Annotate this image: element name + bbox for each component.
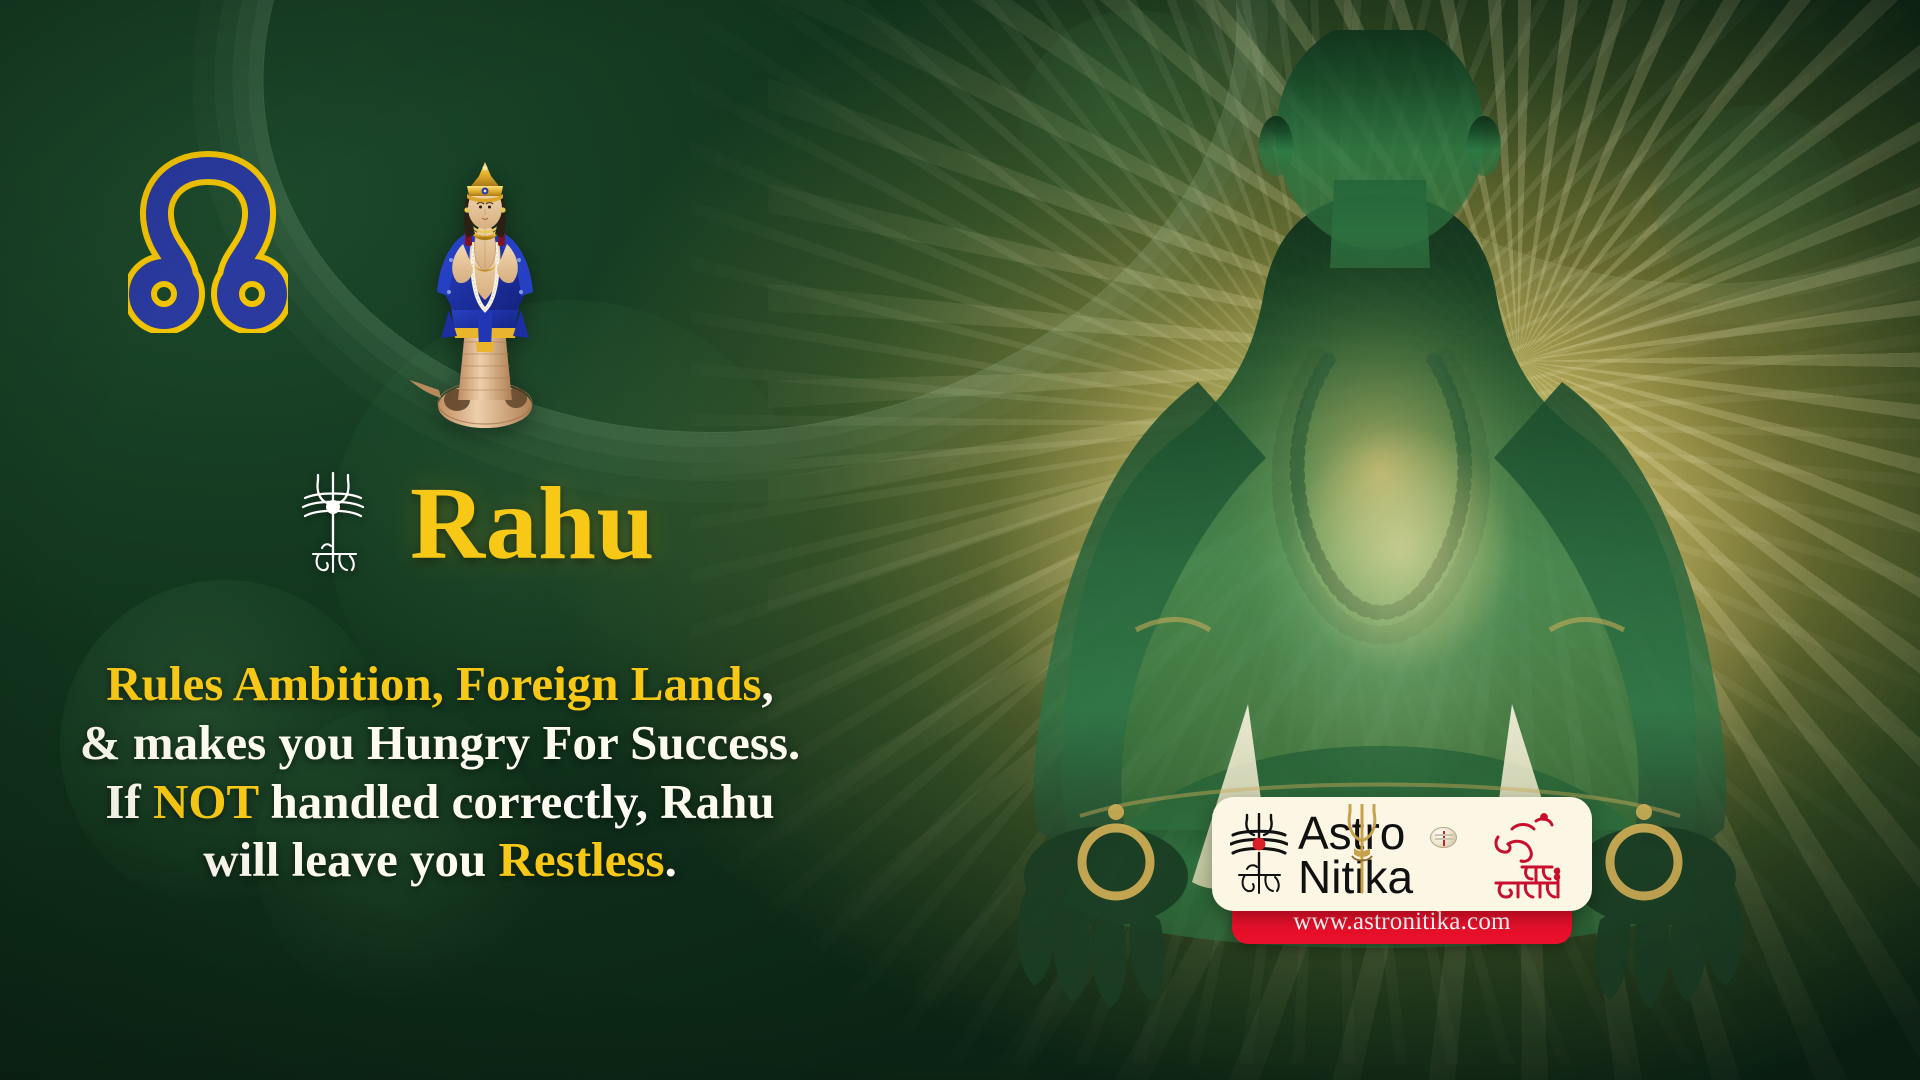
vignette-overlay	[0, 0, 1920, 1080]
om-namah-shivaya-mantra-icon	[1488, 811, 1574, 899]
astronitika-logo-badge[interactable]: Astro Nitika	[1212, 797, 1592, 944]
logo-card: Astro Nitika	[1212, 797, 1592, 911]
rahu-planet-poster: Rahu Rules Ambition, Foreign Lands, & ma…	[0, 0, 1920, 1080]
brand-wordmark: Astro Nitika	[1298, 811, 1478, 899]
shiva-lingam-icon	[1430, 827, 1457, 848]
tripundra-shiv-icon	[1230, 813, 1288, 897]
brand-word-bottom: Nitika	[1298, 851, 1413, 903]
